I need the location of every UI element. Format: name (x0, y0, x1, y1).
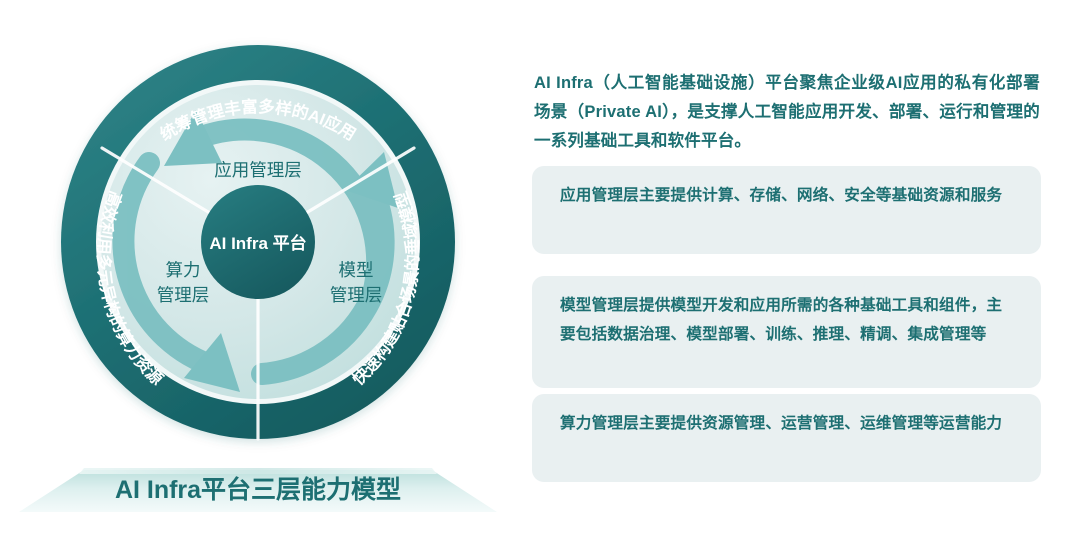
layer-label-compute-line2: 管理层 (157, 285, 210, 305)
layer-label-compute-line1: 算力 (166, 260, 201, 280)
info-card-application-layer-text: 应用管理层主要提供计算、存储、网络、安全等基础资源和服务 (560, 187, 1002, 204)
slide-canvas: AI Infra 平台 应用管理层 算力 管理层 模型 管理层 统筹管理丰富多样… (0, 0, 1080, 551)
info-card-model-layer-text: 模型管理层提供模型开发和应用所需的各种基础工具和组件，主要包括数据治理、模型部署… (560, 297, 1002, 343)
info-card-application-layer: 应用管理层主要提供计算、存储、网络、安全等基础资源和服务 (532, 166, 1041, 254)
info-card-compute-layer-text: 算力管理层主要提供资源管理、运营管理、运维管理等运营能力 (560, 415, 1002, 432)
layer-label-model-line1: 模型 (339, 260, 374, 280)
intro-paragraph: AI Infra（人工智能基础设施）平台聚焦企业级AI应用的私有化部署场景（Pr… (534, 69, 1040, 156)
description-panel: AI Infra（人工智能基础设施）平台聚焦企业级AI应用的私有化部署场景（Pr… (532, 0, 1052, 551)
info-card-model-layer: 模型管理层提供模型开发和应用所需的各种基础工具和组件，主要包括数据治理、模型部署… (532, 276, 1041, 388)
wheel-graphic: AI Infra 平台 应用管理层 算力 管理层 模型 管理层 统筹管理丰富多样… (0, 0, 510, 551)
layer-label-model-line2: 管理层 (330, 285, 383, 305)
center-label: AI Infra 平台 (209, 233, 306, 253)
capability-model-diagram: AI Infra 平台 应用管理层 算力 管理层 模型 管理层 统筹管理丰富多样… (0, 0, 510, 551)
diagram-title: AI Infra平台三层能力模型 (115, 475, 401, 504)
info-card-compute-layer: 算力管理层主要提供资源管理、运营管理、运维管理等运营能力 (532, 394, 1041, 482)
layer-label-app: 应用管理层 (214, 160, 302, 180)
